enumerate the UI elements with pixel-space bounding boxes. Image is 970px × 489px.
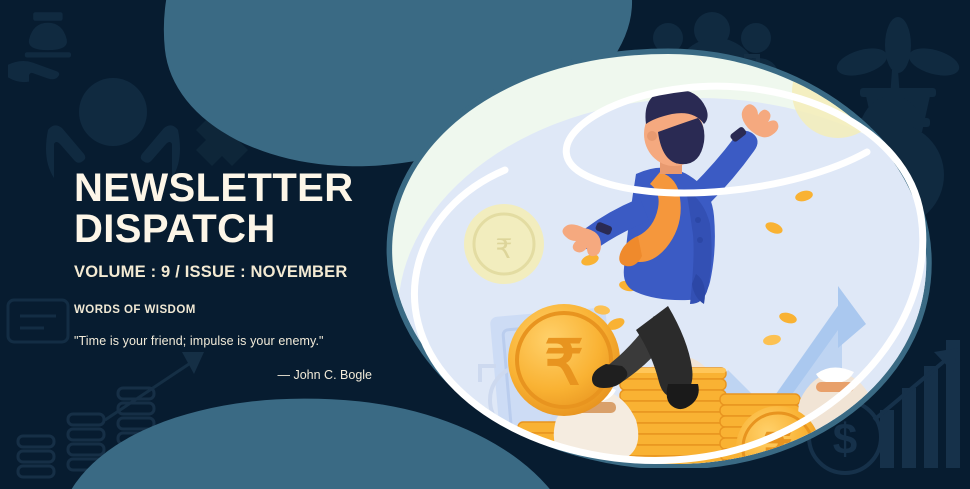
pale-rupee-coin: ₹ — [464, 204, 544, 284]
newsletter-banner: $ $ $ — [0, 0, 970, 489]
quote-text: "Time is your friend; impulse is your en… — [74, 334, 374, 348]
illustration-container: ₹ — [368, 48, 938, 468]
quote-attribution: — John C. Bogle — [74, 368, 374, 382]
hand-holding-money-bag-icon — [8, 12, 71, 82]
words-of-wisdom-label: WORDS OF WISDOM — [74, 304, 374, 316]
title-line-1: NEWSLETTER — [74, 166, 354, 210]
capsule-contents: ₹ — [368, 48, 938, 468]
page-title: NEWSLETTER DISPATCH — [74, 168, 374, 250]
rupee-coin-large: ₹ — [508, 304, 620, 416]
celebrating-investor-illustration: ₹ — [368, 48, 938, 468]
document-icon — [8, 300, 68, 342]
dollar-coin-icon — [79, 78, 147, 146]
title-line-2: DISPATCH — [74, 209, 374, 250]
volume-issue-label: VOLUME : 9 / ISSUE : NOVEMBER — [74, 263, 374, 282]
svg-text:₹: ₹ — [544, 329, 583, 398]
svg-text:₹: ₹ — [495, 234, 512, 264]
faint-coin-top — [792, 48, 884, 138]
text-content-column: NEWSLETTER DISPATCH VOLUME : 9 / ISSUE :… — [74, 168, 374, 382]
